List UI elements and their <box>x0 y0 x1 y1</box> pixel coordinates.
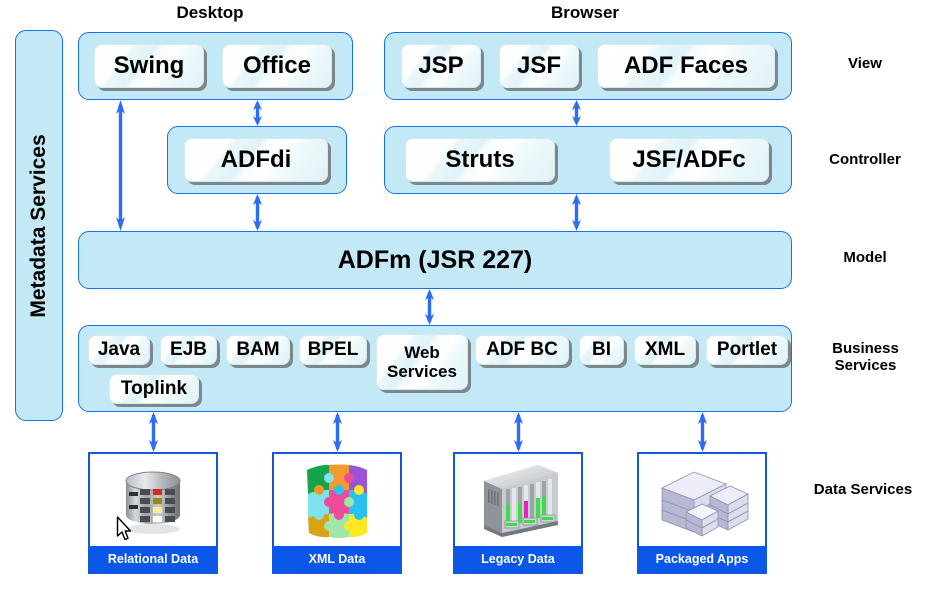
controller-item-jsf-adfc[interactable]: JSF/ADFc <box>609 138 769 182</box>
database-cylinder-icon <box>90 454 216 546</box>
controller-browser-panel[interactable]: Struts JSF/ADFc <box>384 126 792 194</box>
data-service-caption-legacy-data: Legacy Data <box>455 546 581 572</box>
business-item-bam[interactable]: BAM <box>226 335 290 365</box>
connector-office-to-adfdi <box>251 100 264 126</box>
connector-browser-view-to-controller <box>570 100 583 126</box>
business-item-toplink[interactable]: Toplink <box>109 374 199 404</box>
data-service-card-legacy-data[interactable]: Legacy Data <box>453 452 583 574</box>
business-item-web-services-line1: Web <box>404 343 440 362</box>
business-item-ejb[interactable]: EJB <box>160 335 217 365</box>
column-header-browser: Browser <box>515 3 655 23</box>
connector-browser-controller-to-model <box>570 194 583 231</box>
tier-label-business-services-line2: Services <box>798 357 933 374</box>
stacked-boxes-icon <box>639 454 765 546</box>
controller-desktop-panel[interactable]: ADFdi <box>167 126 347 194</box>
data-service-caption-relational-data: Relational Data <box>90 546 216 572</box>
connector-business-to-xml-data <box>331 412 344 452</box>
model-label: ADFm (JSR 227) <box>338 246 533 275</box>
puzzle-pieces-icon <box>274 454 400 546</box>
business-item-web-services[interactable]: Web Services <box>376 334 468 390</box>
connector-model-to-business-services <box>423 289 436 325</box>
data-service-caption-xml-data: XML Data <box>274 546 400 572</box>
business-item-adf-bc[interactable]: ADF BC <box>475 335 569 365</box>
tier-label-model: Model <box>800 249 930 266</box>
diagram-canvas: Desktop Browser Metadata Services Swing … <box>0 0 938 596</box>
connector-business-to-relational-data <box>147 412 160 452</box>
data-service-card-packaged-apps[interactable]: Packaged Apps <box>637 452 767 574</box>
data-service-card-relational-data[interactable]: Relational Data <box>88 452 218 574</box>
mainframe-server-icon <box>455 454 581 546</box>
view-item-adf-faces[interactable]: ADF Faces <box>597 44 775 88</box>
business-item-bpel[interactable]: BPEL <box>299 335 367 365</box>
mouse-cursor-icon <box>116 516 134 542</box>
tier-label-controller: Controller <box>800 151 930 168</box>
data-service-caption-packaged-apps: Packaged Apps <box>639 546 765 572</box>
business-item-bi[interactable]: BI <box>579 335 624 365</box>
connector-swing-to-model <box>114 100 127 231</box>
view-browser-panel[interactable]: JSP JSF ADF Faces <box>384 32 792 100</box>
data-service-card-xml-data[interactable]: XML Data <box>272 452 402 574</box>
business-item-web-services-line2: Services <box>387 362 457 381</box>
tier-label-data-services: Data Services <box>788 481 938 498</box>
tier-label-business-services: Business Services <box>798 340 933 375</box>
view-item-swing[interactable]: Swing <box>94 44 204 88</box>
business-services-panel[interactable]: Java EJB BAM BPEL Web Services ADF BC BI… <box>78 325 792 412</box>
controller-item-struts[interactable]: Struts <box>405 138 555 182</box>
tier-label-business-services-line1: Business <box>798 340 933 357</box>
model-panel[interactable]: ADFm (JSR 227) <box>78 231 792 289</box>
business-item-xml[interactable]: XML <box>634 335 696 365</box>
business-item-java[interactable]: Java <box>88 335 150 365</box>
metadata-services-label: Metadata Services <box>27 134 51 317</box>
view-item-jsp[interactable]: JSP <box>401 44 481 88</box>
view-desktop-panel[interactable]: Swing Office <box>78 32 353 100</box>
business-item-portlet[interactable]: Portlet <box>706 335 788 365</box>
connector-business-to-legacy-data <box>512 412 525 452</box>
column-header-desktop: Desktop <box>140 3 280 23</box>
controller-item-adfdi[interactable]: ADFdi <box>184 138 328 182</box>
tier-label-view: View <box>800 55 930 72</box>
view-item-jsf[interactable]: JSF <box>499 44 579 88</box>
metadata-services-panel[interactable]: Metadata Services <box>15 30 63 421</box>
connector-business-to-packaged-apps <box>696 412 709 452</box>
connector-adfdi-to-model <box>251 194 264 231</box>
view-item-office[interactable]: Office <box>222 44 332 88</box>
